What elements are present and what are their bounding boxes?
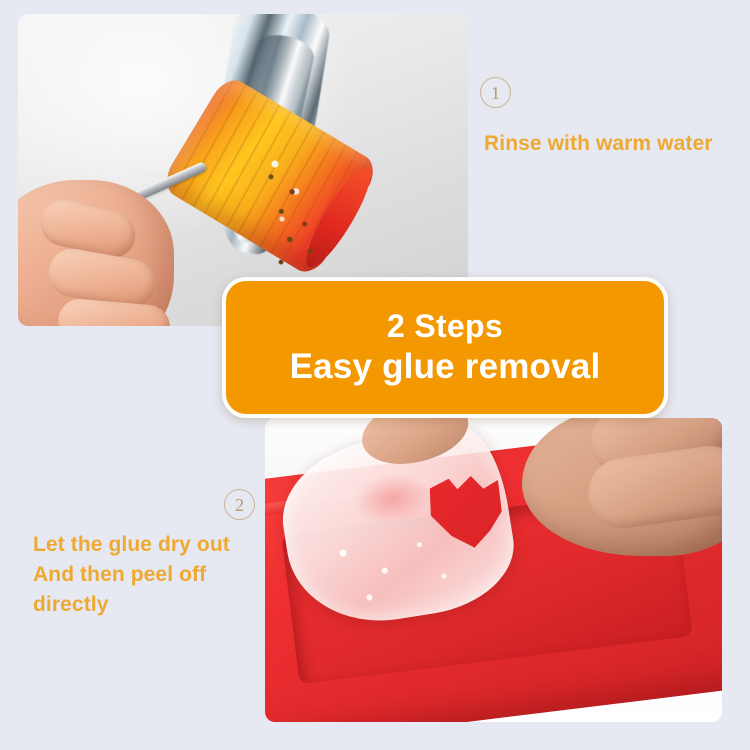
step-1-number-icon: 1 [480, 77, 511, 108]
badge-subtitle: Easy glue removal [290, 348, 601, 387]
badge-title: 2 Steps [387, 309, 503, 344]
step-2-caption-line: Let the glue dry out [33, 530, 269, 560]
step-1-caption: Rinse with warm water [484, 129, 750, 159]
step-2-number-icon: 2 [224, 489, 255, 520]
peel-photo [265, 418, 722, 722]
paint-residue-specks [254, 161, 341, 276]
steps-badge: 2 Steps Easy glue removal [222, 277, 668, 418]
step-2-caption: Let the glue dry out And then peel off d… [33, 530, 269, 619]
product-infographic: 2 Steps Easy glue removal 1 Rinse with w… [0, 0, 750, 750]
step-2-caption-line: directly [33, 590, 269, 620]
step-2-caption-line: And then peel off [33, 560, 269, 590]
